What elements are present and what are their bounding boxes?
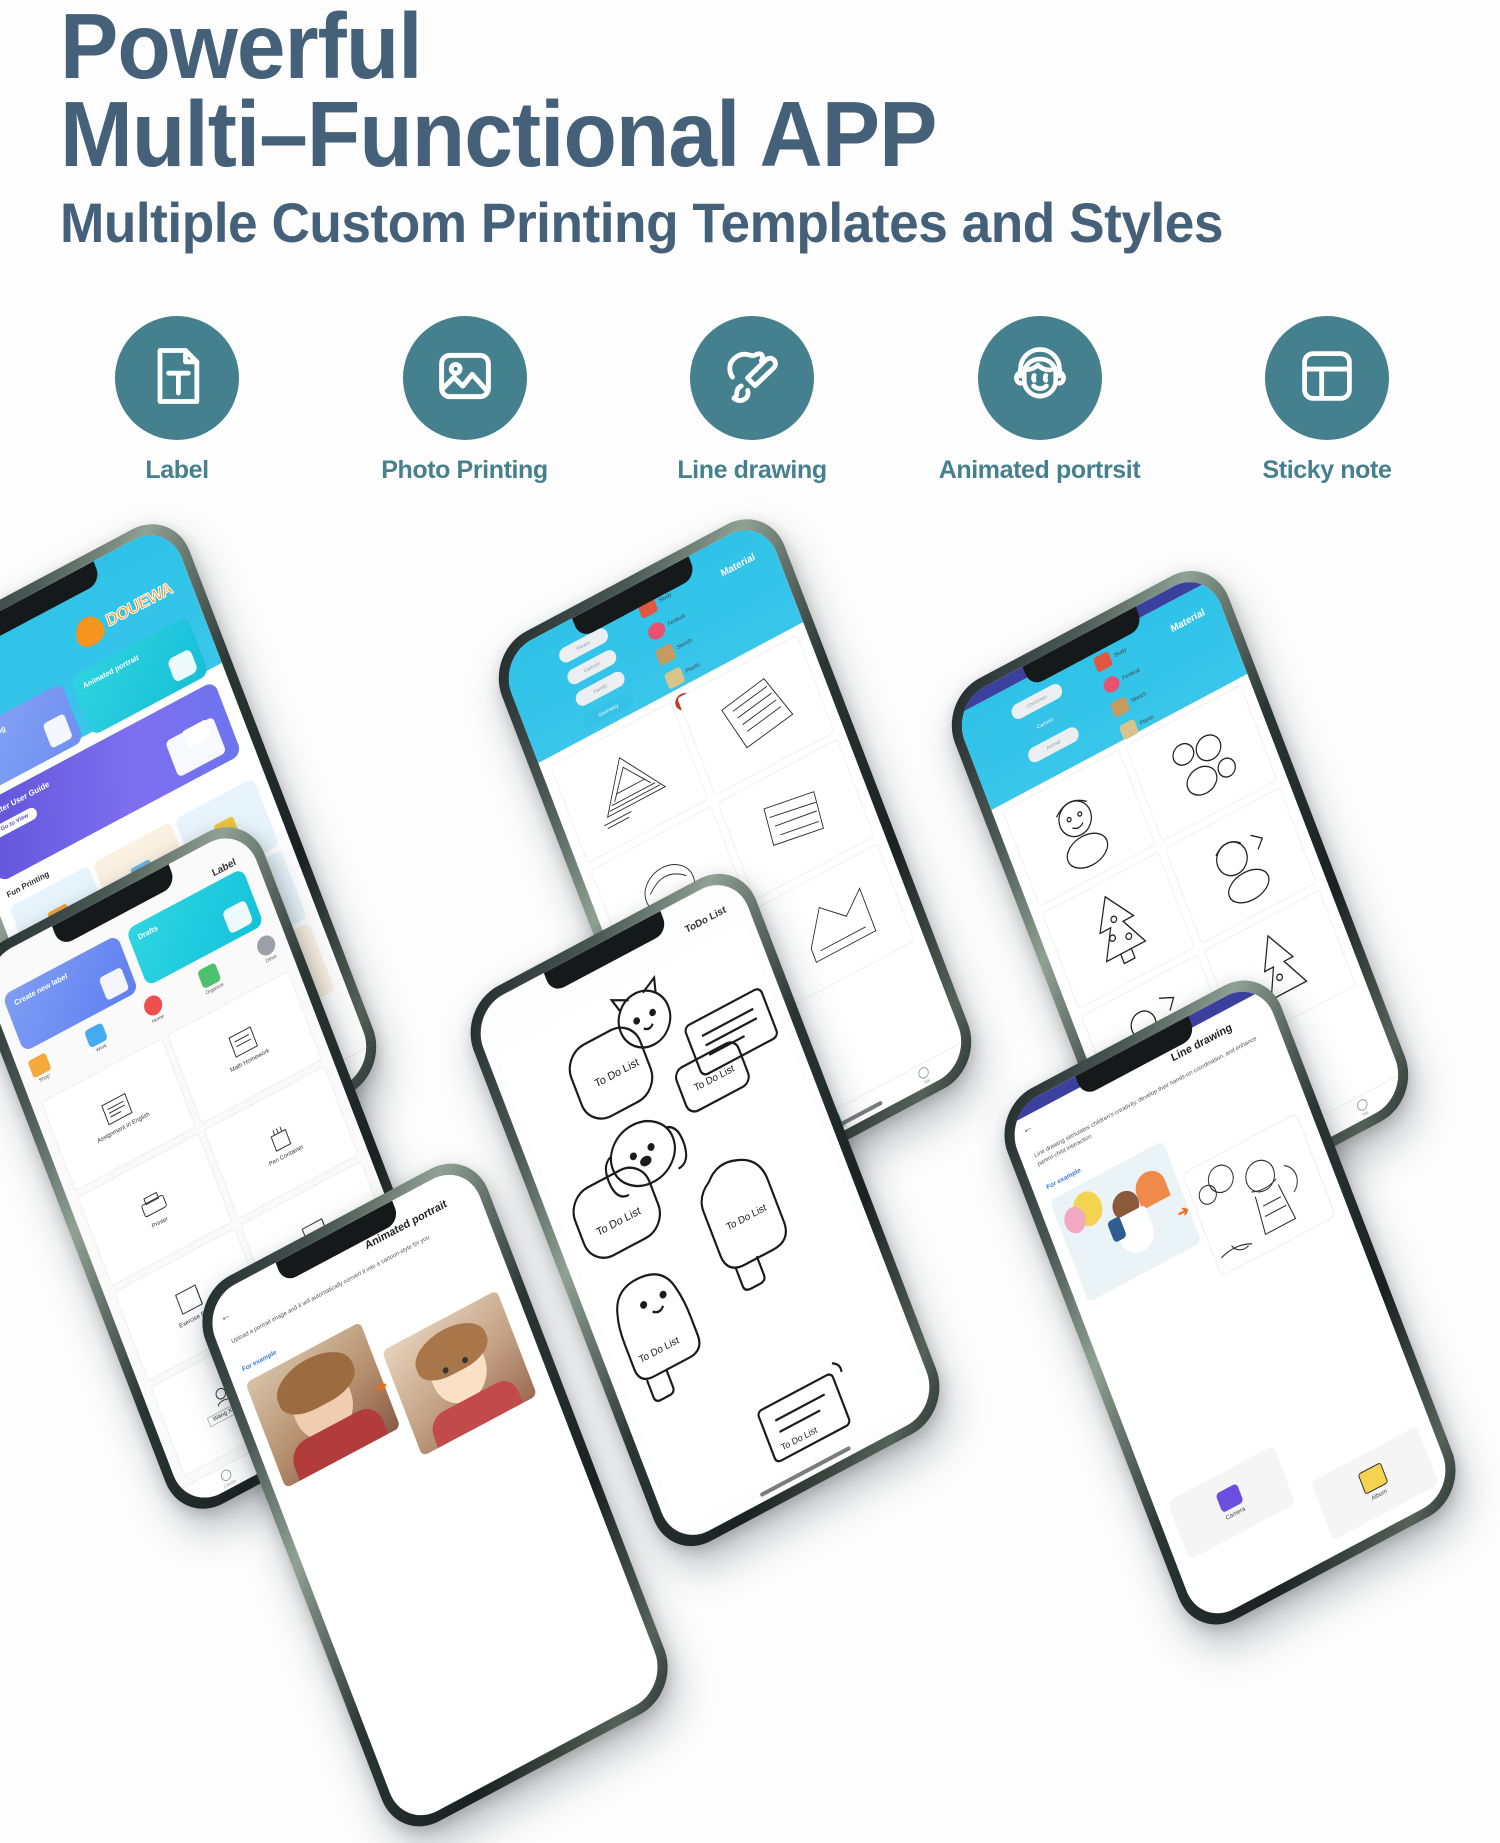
portrait-before-photo[interactable] xyxy=(245,1322,400,1488)
feature-animated-portrait-text: Animated portrsit xyxy=(939,456,1141,485)
feature-line-drawing-text: Line drawing xyxy=(677,456,826,485)
drafts-text: Drafts xyxy=(137,923,159,942)
todo-screen-title: ToDo List xyxy=(684,904,728,936)
headline-block: Powerful Multi–Functional APP Multiple C… xyxy=(60,2,1460,260)
todo-template-notepad[interactable]: To Do List xyxy=(745,1351,870,1474)
label-category-organize[interactable]: Organize xyxy=(197,962,225,997)
photo-printing-circle xyxy=(403,316,527,440)
todo-template-label: To Do List xyxy=(725,1202,768,1233)
cartoon-face-icon xyxy=(1005,341,1075,416)
category-plants-label: Plants xyxy=(685,662,701,675)
headline-line-2: Multi–Functional APP xyxy=(60,90,1376,178)
layout-grid-icon xyxy=(1295,344,1359,413)
photo-image-icon xyxy=(432,343,498,414)
line-drawing-circle xyxy=(690,316,814,440)
headline-subtitle: Multiple Custom Printing Templates and S… xyxy=(60,186,1390,260)
animated-portrait-circle xyxy=(978,316,1102,440)
line-drawing-before-image[interactable] xyxy=(1050,1141,1202,1303)
tab-me[interactable]: Me xyxy=(1355,1097,1371,1118)
todo-template-label: To Do List xyxy=(595,1205,642,1239)
material-title: Material xyxy=(1169,607,1206,635)
portrait-after-cartoon[interactable] xyxy=(382,1290,537,1456)
category-sketch-label: Sketch xyxy=(1130,690,1147,704)
photo-card-icon xyxy=(42,713,73,749)
label-category-home[interactable]: Home xyxy=(141,992,168,1026)
back-arrow-icon[interactable]: ← xyxy=(1021,1120,1035,1136)
category-festival-label: Festival xyxy=(1122,667,1141,682)
sticky-note-circle xyxy=(1265,316,1389,440)
feature-label[interactable]: Label xyxy=(52,316,302,485)
todo-template-label: To Do List xyxy=(638,1335,681,1366)
label-category-work[interactable]: Work xyxy=(84,1022,111,1057)
tab-me[interactable]: Me xyxy=(917,1064,933,1085)
feature-sticky-note-text: Sticky note xyxy=(1263,456,1392,485)
label-category-shop[interactable]: Shop xyxy=(27,1052,54,1087)
category-sketch-label: Sketch xyxy=(676,638,693,652)
create-label-icon xyxy=(99,967,130,1001)
material-title: Material xyxy=(719,552,756,580)
create-new-label-text: Create new label xyxy=(13,966,78,1008)
headline-line-1: Powerful xyxy=(60,2,1376,90)
feature-label-text: Label xyxy=(145,456,208,485)
portrait-card-icon xyxy=(167,648,199,683)
todo-template-label: To Do List xyxy=(593,1056,640,1090)
tab-me-label: Me xyxy=(923,1077,930,1085)
back-arrow-icon[interactable]: ← xyxy=(219,1308,233,1324)
feature-animated-portrait[interactable]: Animated portrsit xyxy=(915,316,1165,485)
feature-line-drawing[interactable]: Line drawing xyxy=(627,316,877,485)
feature-photo-printing-text: Photo Printing xyxy=(381,456,548,485)
paintbrush-icon xyxy=(718,342,786,415)
category-plants-label: Plants xyxy=(1139,714,1155,727)
tab-create[interactable]: Create xyxy=(218,1466,236,1488)
feature-photo-printing[interactable]: Photo Printing xyxy=(340,316,590,485)
label-circle xyxy=(115,316,239,440)
feature-icon-row: Label Photo Printing xyxy=(52,316,1452,516)
drafts-icon xyxy=(222,900,254,935)
photo-printing-card-label: Photo Printing xyxy=(0,724,7,757)
category-study-label: Study xyxy=(1113,647,1128,659)
line-drawing-after-image[interactable] xyxy=(1182,1113,1336,1277)
label-document-t-icon xyxy=(143,342,211,415)
label-category-other[interactable]: Other xyxy=(254,932,281,966)
album-button[interactable]: Album xyxy=(1311,1426,1439,1541)
camera-button[interactable]: Camera xyxy=(1167,1445,1295,1560)
tab-me-label: Me xyxy=(1362,1109,1369,1117)
brand-name: DOUEWA xyxy=(103,578,175,631)
douewa-mascot-icon xyxy=(71,611,108,651)
feature-sticky-note[interactable]: Sticky note xyxy=(1202,316,1452,485)
category-festival-label: Festival xyxy=(667,613,686,628)
